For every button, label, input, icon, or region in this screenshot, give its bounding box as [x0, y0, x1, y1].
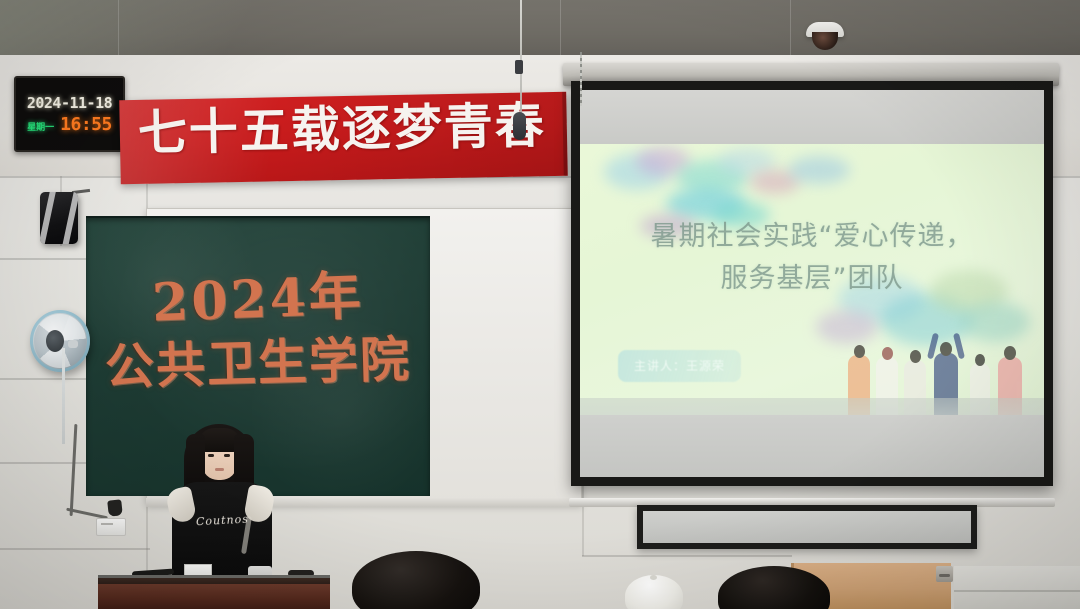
cabinet-line: [954, 590, 1080, 592]
presenter-mouth: [215, 468, 224, 471]
slide-ground: [580, 398, 1044, 415]
slide-title-line-1: 暑期社会实践“爱心传递，: [651, 221, 974, 252]
presentation-slide: 暑期社会实践“爱心传递， 服务基层”团队 主讲人：王源荣: [580, 144, 1044, 415]
led-clock-date: 2024-11-18: [27, 94, 112, 112]
slide-person-head: [940, 342, 952, 356]
slide-person-head: [910, 350, 921, 363]
fan-pull-cord[interactable]: [62, 348, 65, 444]
screen-band-bottom: [580, 415, 1044, 477]
wall-panel-line: [582, 555, 792, 557]
red-banner: 七十五载逐梦青春: [119, 92, 568, 185]
audience-head-cap: [625, 575, 683, 609]
presenter-person: Coutnos: [158, 424, 288, 584]
led-clock-display: 2024-11-18 星期一 16:55: [14, 76, 125, 152]
presenter-eye: [224, 454, 230, 457]
presenter-garment-script: Coutnos: [196, 513, 250, 529]
cap-button: [650, 575, 657, 580]
lectern-body: [98, 584, 330, 609]
fan-mount-arm: [68, 340, 78, 348]
screen-foot-inner: [643, 511, 971, 543]
pull-cord-handle[interactable]: [513, 112, 526, 140]
ceiling-seam: [118, 0, 119, 62]
wall-hook: [107, 499, 123, 516]
speaker-stripe: [40, 192, 57, 244]
presenter-name-chip: 主讲人：王源荣: [618, 350, 741, 382]
ceiling-light-glow: [0, 0, 330, 62]
slide-person-head: [882, 347, 893, 360]
blackboard-text: 2024年 公共卫生学院: [86, 270, 430, 392]
speaker-stripe: [61, 192, 78, 244]
blackboard-line-2: 公共卫生学院: [86, 330, 430, 397]
pull-cord-clip: [515, 60, 523, 74]
led-clock-time: 16:55: [60, 114, 112, 135]
door-latch-slot: [939, 574, 950, 577]
hanging-chain: [580, 52, 582, 106]
wall-panel-line: [0, 548, 150, 550]
slide-person-head: [975, 354, 985, 366]
classroom-scene: 2024-11-18 星期一 16:55 七十五载逐梦青春 2024年 公共卫生…: [0, 0, 1080, 609]
banner-text: 七十五载逐梦青春: [137, 98, 559, 162]
wall-speaker-icon: [40, 192, 78, 244]
led-clock-weekday: 星期一: [27, 120, 54, 133]
right-cabinet: [954, 566, 1080, 609]
outlet-slot: [101, 523, 113, 525]
projection-surface: 暑期社会实践“爱心传递， 服务基层”团队 主讲人：王源荣: [580, 90, 1044, 477]
fan-guard-ring: [30, 310, 90, 372]
ceiling-seam: [560, 0, 561, 62]
slide-person-head: [854, 345, 865, 358]
ceiling-seam: [790, 0, 791, 62]
slide-title-line-2: 服务基层”团队: [580, 258, 1044, 300]
slide-person-head: [1004, 346, 1016, 360]
presenter-eye: [208, 454, 214, 457]
blackboard-line-1: 2024年: [86, 264, 430, 336]
watercolor-blob: [788, 156, 850, 184]
power-outlet[interactable]: [96, 518, 126, 536]
slide-title: 暑期社会实践“爱心传递， 服务基层”团队: [580, 216, 1044, 300]
screen-band-top: [580, 90, 1044, 144]
